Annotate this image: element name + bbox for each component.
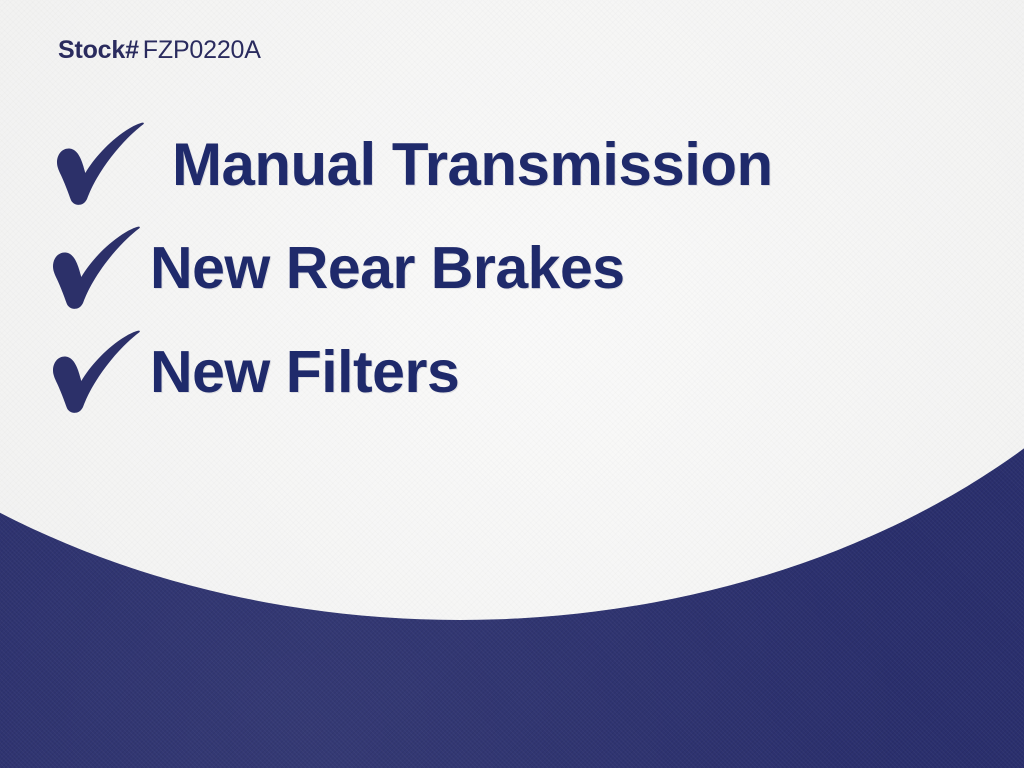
feature-list: Manual Transmission New Rear Brakes New … [0, 112, 1024, 424]
stock-number-line: Stock#FZP0220A [58, 36, 261, 65]
stock-number-value: FZP0220A [143, 36, 261, 64]
feature-label: New Rear Brakes [150, 234, 625, 302]
stock-number-label: Stock# [58, 36, 139, 64]
feature-item-new-rear-brakes: New Rear Brakes [0, 216, 1024, 320]
feature-label: Manual Transmission [172, 130, 773, 199]
checkmark-icon [50, 330, 142, 414]
checkmark-icon [54, 122, 146, 206]
feature-item-manual-transmission: Manual Transmission [0, 112, 1024, 216]
checkmark-icon [50, 226, 142, 310]
slide-content: Stock#FZP0220A Manual Transmission New R… [0, 0, 1024, 768]
feature-item-new-filters: New Filters [0, 320, 1024, 424]
vehicle-feature-slide: Stock#FZP0220A Manual Transmission New R… [0, 0, 1024, 768]
feature-label: New Filters [150, 338, 459, 406]
